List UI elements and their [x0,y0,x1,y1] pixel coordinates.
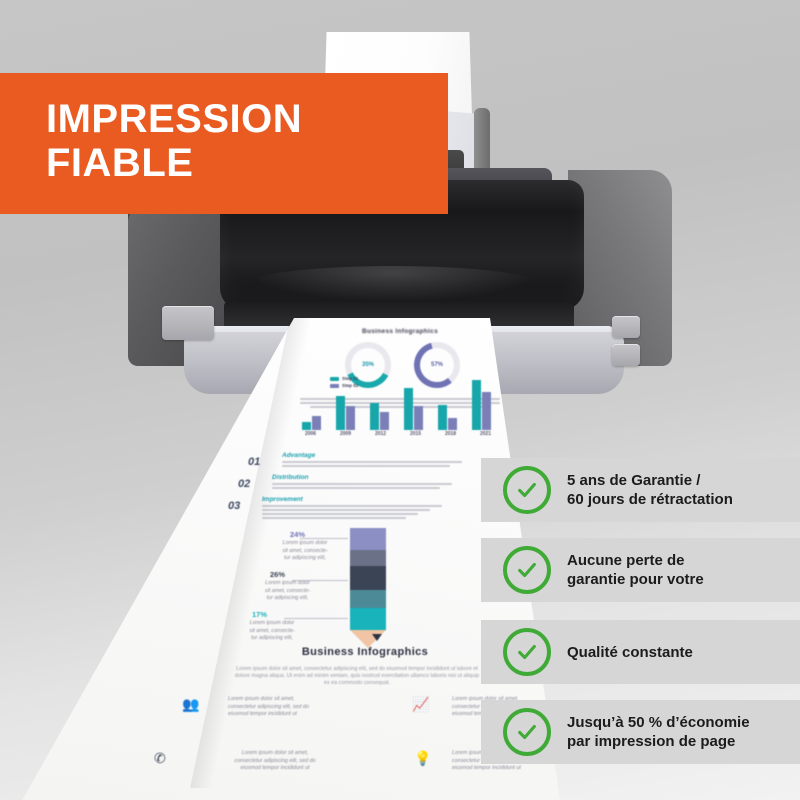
people-group-icon: 👥 [182,696,199,713]
bar-chart-x-axis: 200620092012201520182021 [293,431,503,437]
printer-power-button[interactable] [162,306,214,340]
growth-chart-icon: 📈 [412,696,429,713]
document-section-title: Business Infographics [250,646,480,658]
placeholder-text-line [262,509,430,511]
list-item-heading: Advantage [282,452,315,459]
funnel-text-2: Lorem ipsum dolor sit amet, consecte- tu… [245,580,330,603]
bar [448,418,457,430]
document-header-title: Business Infographics [330,328,470,335]
x-axis-tick-label: 2006 [293,431,328,437]
check-circle-icon [503,628,551,676]
list-item-number: 03 [228,500,240,512]
x-axis-tick-label: 2021 [468,431,503,437]
feature-label: Aucune perte de garantie pour votre [567,551,704,589]
feature-label: Jusqu’à 50 % d’économie par impression d… [567,713,750,751]
funnel-text-3: Lorem ipsum dolor sit amet, consecte- tu… [228,620,316,643]
placeholder-text-line [262,505,442,507]
poster-canvas: Business Infographics 35% 57% Step 01 [0,0,800,800]
placeholder-text-line [262,513,418,515]
bar [404,388,413,430]
placeholder-text-line [262,517,406,519]
feature-panel[interactable]: Aucune perte de garantie pour votre [481,538,800,602]
list-item-heading: Improvement [262,496,303,503]
x-axis-tick-label: 2009 [328,431,363,437]
bar [438,405,447,430]
headline-banner: IMPRESSION FIABLE [0,73,448,214]
funnel-pencil-graphic [350,528,386,638]
bar [346,406,355,430]
bar-chart [296,378,496,430]
lightbulb-icon: 💡 [414,750,431,767]
bar [482,392,491,430]
numbered-list-item: 02Distribution [238,474,498,496]
list-item-number: 01 [248,456,260,468]
bar [472,380,481,430]
feature-panel[interactable]: Qualité constante [481,620,800,684]
check-circle-icon [503,708,551,756]
funnel-text-1: Lorem ipsum dolor sit amet, consecte- tu… [265,540,345,563]
bar [302,422,311,430]
x-axis-tick-label: 2015 [398,431,433,437]
numbered-list-item: 01Advantage [248,452,498,474]
funnel-pct-3: 17% [252,610,267,619]
bar [336,396,345,430]
document-body-text: Lorem ipsum dolor sit amet, consectetur … [232,666,482,687]
placeholder-text-line [282,465,450,467]
numbered-list-item: 03Improvement [228,496,498,526]
x-axis-tick-label: 2012 [363,431,398,437]
printer-cancel-button[interactable] [612,344,640,366]
icon-block-3-text: Lorem ipsum dolor sit amet, consectetur … [200,750,350,773]
printer-drum-highlight [248,266,538,302]
printer-feed-button[interactable] [612,316,640,338]
x-axis-tick-label: 2018 [433,431,468,437]
bar [312,416,321,430]
check-circle-icon [503,466,551,514]
icon-block-1-text: Lorem ipsum dolor sit amet, consectetur … [228,696,368,719]
placeholder-text-line [272,487,440,489]
arrow-down-icon [372,634,382,641]
feature-panel[interactable]: Jusqu’à 50 % d’économie par impression d… [481,700,800,764]
list-item-number: 02 [238,478,250,490]
infographic-document: Business Infographics 35% 57% Step 01 [0,318,560,800]
printed-sheet: Business Infographics 35% 57% Step 01 [0,318,560,800]
funnel-pct-2: 26% [270,570,285,579]
clock-phone-icon: ✆ [154,750,166,767]
feature-label: Qualité constante [567,643,693,662]
list-item-heading: Distribution [272,474,308,481]
feature-panel[interactable]: 5 ans de Garantie / 60 jours de rétracta… [481,458,800,522]
donut-chart-2-value: 57% [420,348,454,382]
page-title: IMPRESSION FIABLE [46,97,436,185]
bar [370,403,379,430]
check-circle-icon [503,546,551,594]
bar [380,412,389,430]
feature-label: 5 ans de Garantie / 60 jours de rétracta… [567,471,733,509]
bar [414,406,423,430]
placeholder-text-line [272,483,452,485]
placeholder-text-line [282,461,462,463]
numbered-list: 01Advantage02Distribution03Improvement [248,452,498,526]
